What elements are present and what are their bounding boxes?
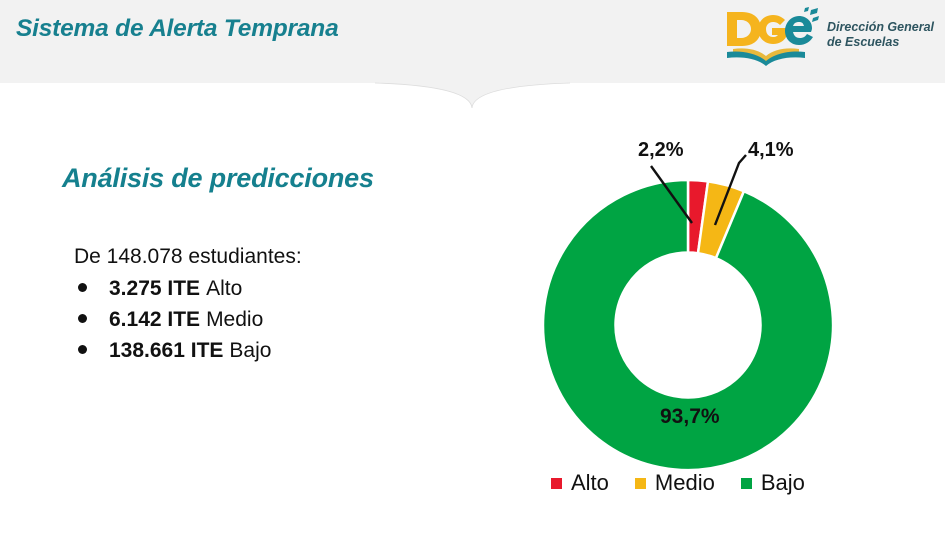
students-total-line: De 148.078 estudiantes: xyxy=(74,245,302,269)
data-label-alto: 2,2% xyxy=(638,139,684,162)
list-item-label: Bajo xyxy=(229,339,271,363)
logo-org-line-1: Dirección General xyxy=(827,20,934,35)
section-title: Análisis de predicciones xyxy=(62,163,374,194)
logo-org-line-2: de Escuelas xyxy=(827,35,934,50)
legend-item-alto[interactable]: Alto xyxy=(551,470,609,496)
list-item-value: 3.275 ITE xyxy=(109,277,200,301)
chart-legend: Alto Medio Bajo xyxy=(551,470,805,496)
predictions-donut-chart: 2,2% 4,1% 93,7% xyxy=(520,128,870,508)
list-item: 3.275 ITE Alto xyxy=(74,277,494,308)
list-item: 138.661 ITE Bajo xyxy=(74,339,494,370)
dge-logo-mark-icon xyxy=(723,6,821,66)
legend-label-bajo: Bajo xyxy=(761,470,805,496)
legend-label-medio: Medio xyxy=(655,470,715,496)
legend-label-alto: Alto xyxy=(571,470,609,496)
bullet-dot-icon xyxy=(78,345,87,354)
donut-chart-svg xyxy=(520,128,870,508)
legend-swatch-medio xyxy=(635,478,646,489)
list-item-label: Medio xyxy=(206,308,263,332)
data-label-medio: 4,1% xyxy=(748,139,794,162)
legend-item-medio[interactable]: Medio xyxy=(635,470,715,496)
legend-swatch-bajo xyxy=(741,478,752,489)
prediction-breakdown-list: 3.275 ITE Alto 6.142 ITE Medio 138.661 I… xyxy=(74,277,494,370)
page-title: Sistema de Alerta Temprana xyxy=(16,15,339,43)
list-item-value: 138.661 ITE xyxy=(109,339,223,363)
list-item-label: Alto xyxy=(206,277,242,301)
logo-org-name: Dirección General de Escuelas xyxy=(827,20,934,50)
bullet-dot-icon xyxy=(78,314,87,323)
bullet-dot-icon xyxy=(78,283,87,292)
list-item: 6.142 ITE Medio xyxy=(74,308,494,339)
list-item-value: 6.142 ITE xyxy=(109,308,200,332)
header-notch-decoration xyxy=(0,78,945,112)
legend-swatch-alto xyxy=(551,478,562,489)
legend-item-bajo[interactable]: Bajo xyxy=(741,470,805,496)
data-label-bajo: 93,7% xyxy=(660,405,720,429)
dge-logo: Dirección General de Escuelas xyxy=(723,6,935,68)
